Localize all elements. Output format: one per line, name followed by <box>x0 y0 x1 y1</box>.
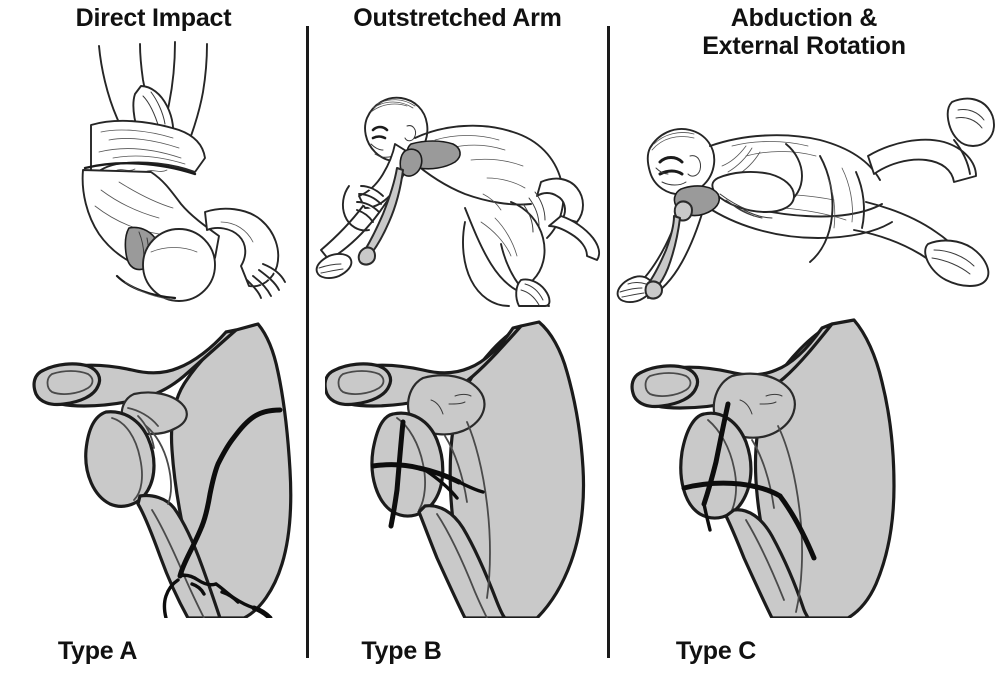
athlete-falling-on-shoulder-icon <box>55 40 300 305</box>
athlete-abduction-external-rotation-icon <box>614 82 998 310</box>
panel-direct-impact: Direct Impact <box>0 0 307 684</box>
panel-c-title: Abduction & External Rotation <box>702 4 906 60</box>
panel-a-title: Direct Impact <box>76 4 232 32</box>
panel-abduction-external-rotation: Abduction & External Rotation <box>608 0 1000 684</box>
panel-b-title: Outstretched Arm <box>353 4 561 32</box>
scapula-type-a-icon <box>22 318 312 618</box>
scapula-type-b-icon <box>325 318 615 618</box>
scapula-type-c-icon <box>622 318 922 618</box>
panel-a-caption: Type A <box>0 637 251 666</box>
panel-outstretched-arm: Outstretched Arm <box>307 0 608 684</box>
panel-b-caption: Type B <box>251 637 552 666</box>
scapula-fracture-figure: Direct Impact <box>0 0 1000 684</box>
panel-c-caption: Type C <box>520 637 912 666</box>
athlete-falling-outstretched-arm-icon <box>315 82 603 307</box>
